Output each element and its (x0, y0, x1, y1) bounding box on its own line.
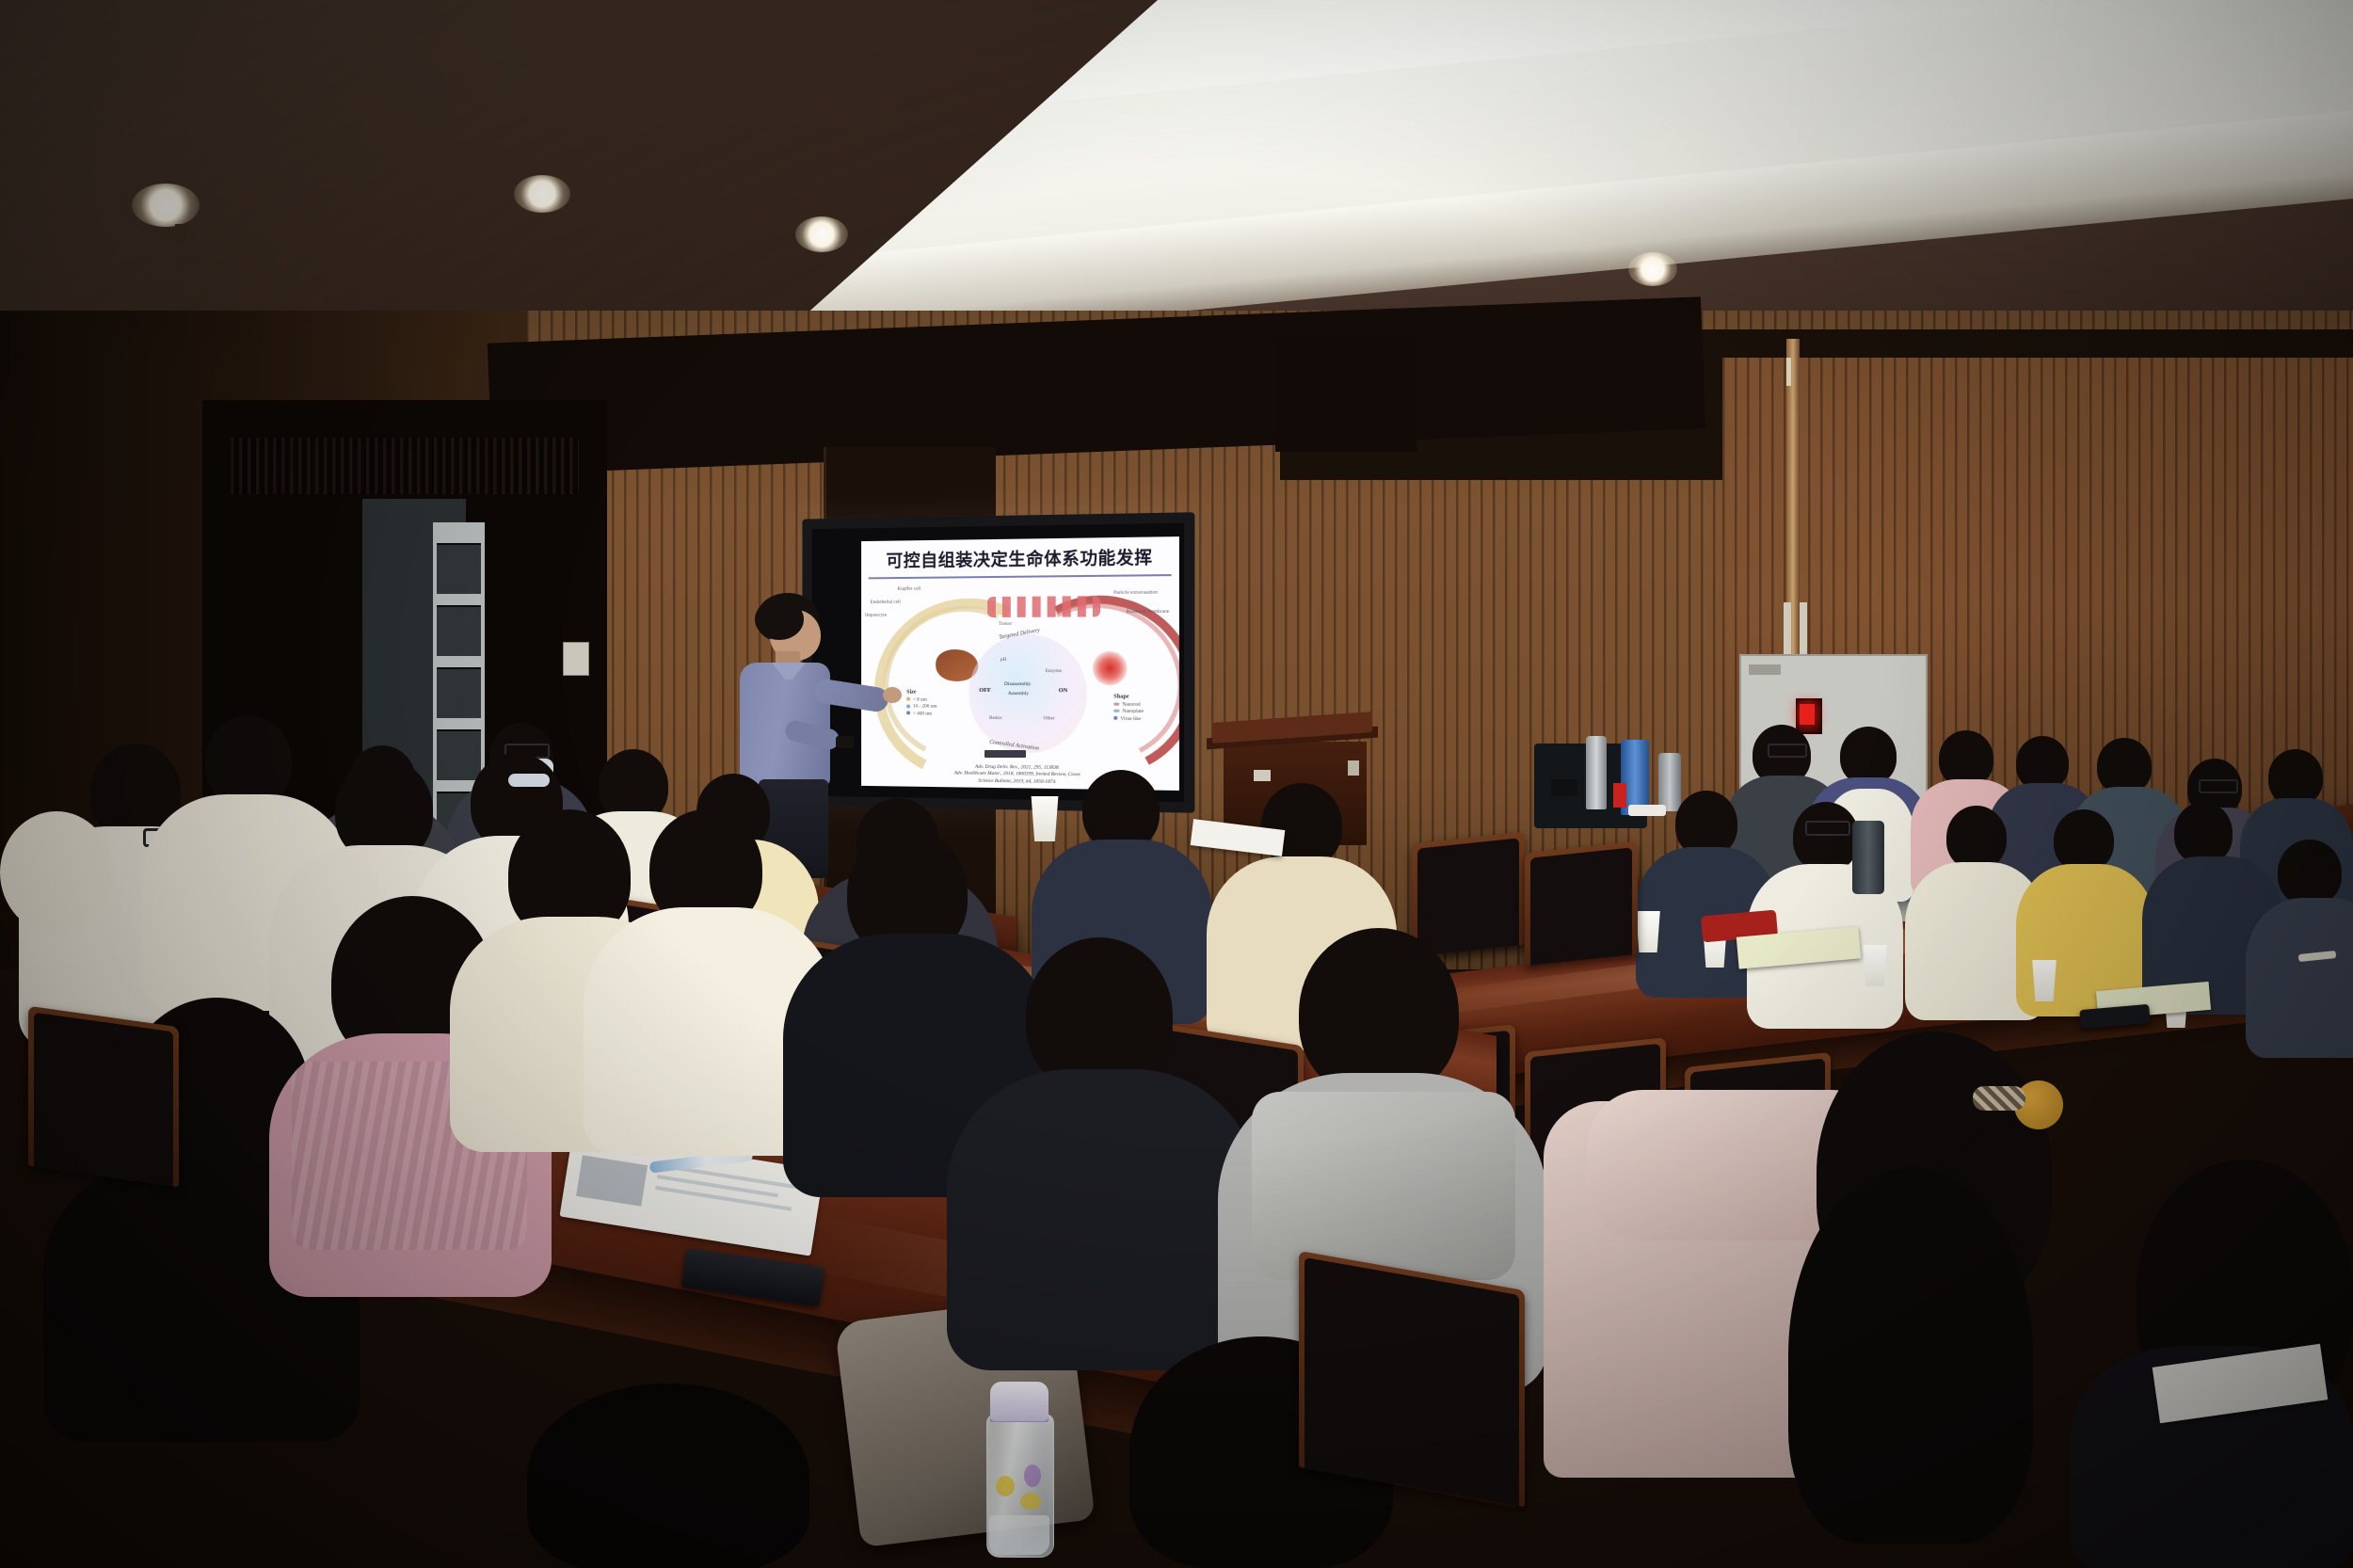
legend-shape-item: Nanorod (1113, 701, 1144, 707)
legend-size-label: 10 - 200 nm (913, 704, 936, 710)
lectern-control-icon[interactable] (1254, 770, 1271, 781)
chair[interactable] (1525, 841, 1638, 967)
display-brand-logo (984, 750, 1026, 758)
audience-head (1840, 727, 1897, 785)
presenter-shirt (740, 663, 830, 785)
red-label-icon (1613, 783, 1626, 808)
handout-line (657, 1175, 778, 1197)
downlight-icon (795, 216, 848, 252)
legend-shape-label: Nanorod (1122, 701, 1140, 707)
seminar-room-photo: 可控自组装决定生命体系功能发挥 Kupffer cell Endothelial… (0, 0, 2353, 1568)
legend-size-item: < 8 nm (906, 696, 936, 702)
legend-nanorod-icon (1113, 702, 1119, 705)
lectern-control-icon[interactable] (1348, 760, 1359, 776)
bottle-cap[interactable] (990, 1382, 1048, 1421)
glasses-icon (2199, 779, 2238, 793)
audience-head (2278, 840, 2342, 905)
label-kupffer-cell: Kupffer cell (897, 585, 920, 591)
audience-head (1299, 928, 1459, 1097)
label-basement-membrane: Basement membrane (1126, 608, 1169, 614)
legend-size-label: > 400 nm (913, 711, 932, 716)
handout-image (576, 1155, 648, 1206)
label-redox: Redox (989, 714, 1002, 720)
downlight-icon (514, 175, 570, 213)
gray-hoodie (1252, 1092, 1515, 1280)
label-endothelial-cell: Endothelial cell (871, 599, 901, 604)
audience-body (947, 1069, 1257, 1370)
label-disassembly: Disassembly (1004, 681, 1031, 687)
dark-thermos[interactable] (1852, 821, 1884, 894)
audience-head (2174, 802, 2233, 864)
audience-head (1939, 730, 1993, 787)
conduit-pipe (1784, 602, 1791, 657)
legend-shape-title: Shape (1113, 693, 1144, 699)
blood-cells-row (987, 596, 1100, 617)
audience-hair (1788, 1167, 2033, 1544)
audience-head (2097, 738, 2152, 794)
conduit-pipe (1800, 602, 1807, 657)
presenter-hand (883, 687, 902, 703)
presentation-clicker[interactable] (836, 736, 855, 748)
status-led-icon (1800, 704, 1815, 725)
bottle-decoration-icon (996, 1476, 1015, 1496)
label-tumor: Tumor (999, 620, 1012, 626)
label-on: ON (1059, 687, 1068, 694)
slide-diagram: Kupffer cell Endothelial cell Hepatocyte… (861, 575, 1179, 754)
legend-shape-item: Virus-like (1113, 715, 1144, 721)
chair[interactable] (28, 1006, 179, 1187)
presenter-hair-front (755, 599, 804, 640)
legend-size-title: Size (906, 688, 936, 695)
label-particle-extravasation: Particle extravasation (1113, 589, 1158, 595)
label-off: OFF (979, 686, 991, 693)
downlight-icon (132, 184, 200, 227)
label-enzyme: Enzyme (1046, 668, 1062, 674)
wall-recess-left (1275, 334, 1417, 452)
audience-head (2054, 809, 2114, 872)
legend-dot-icon (906, 704, 910, 708)
legend-shape: Shape Nanorod Nanoplate Virus-like (1113, 693, 1144, 723)
wall-pillar-highlight (1786, 358, 1791, 386)
bottle-decoration-icon (1020, 1493, 1041, 1510)
water-bottle[interactable] (986, 1382, 1052, 1556)
audience-body (2246, 898, 2353, 1058)
audience-head (2268, 749, 2323, 806)
tumor-illustration (1093, 650, 1128, 685)
legend-size: Size < 8 nm 10 - 200 nm > 400 nm (906, 688, 936, 718)
rack-unit[interactable] (437, 729, 481, 780)
label-hepatocyte: Hepatocyte (865, 612, 887, 617)
bottle-water (989, 1515, 1049, 1555)
rack-unit[interactable] (437, 543, 481, 594)
legend-size-item: > 400 nm (906, 711, 936, 716)
fur-collar (0, 811, 113, 934)
legend-shape-label: Nanoplate (1122, 709, 1144, 714)
rack-unit[interactable] (437, 605, 481, 656)
hair-tie-icon (1973, 1086, 2025, 1111)
audience-head (1793, 802, 1859, 872)
legend-viruslike-icon (1113, 716, 1117, 720)
bottle-decoration-icon (1024, 1464, 1041, 1487)
slide-title: 可控自组装决定生命体系功能发挥 (861, 544, 1179, 572)
legend-dot-icon (906, 697, 910, 701)
face-mask-icon (508, 774, 550, 787)
downlight-icon (1628, 252, 1677, 286)
audience-head (1946, 806, 2007, 870)
legend-shape-item: Nanoplate (1113, 709, 1144, 714)
glasses-icon (1805, 821, 1850, 836)
handout-line (655, 1186, 792, 1211)
steel-thermos[interactable] (1586, 736, 1607, 809)
label-ph: pH (1000, 656, 1006, 662)
glasses-icon (1768, 744, 1807, 758)
steel-thermos[interactable] (1658, 753, 1681, 811)
vent-grille-icon (231, 438, 579, 494)
legend-dot-icon (906, 712, 910, 715)
chair[interactable] (1299, 1251, 1525, 1507)
panel-label (1749, 664, 1781, 675)
legend-size-label: < 8 nm (913, 696, 927, 702)
audience-head (527, 1384, 809, 1568)
legend-nanoplate-icon (1113, 710, 1119, 712)
tissue-pack (1628, 805, 1666, 816)
sprinkler-head-icon (175, 224, 186, 245)
label-assembly: Assembly (1008, 691, 1029, 696)
chair[interactable] (1412, 832, 1525, 957)
legend-size-item: 10 - 200 nm (906, 704, 936, 710)
legend-shape-label: Virus-like (1120, 716, 1141, 722)
equipment-slot (1551, 779, 1577, 796)
rack-unit[interactable] (437, 667, 481, 718)
light-switch-plate[interactable] (563, 642, 589, 676)
label-other: Other (1044, 715, 1055, 721)
